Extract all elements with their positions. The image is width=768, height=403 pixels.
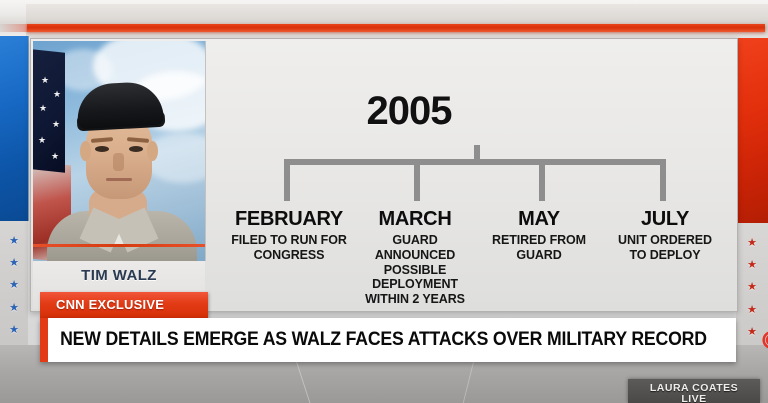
studio-accent-stripe (27, 24, 765, 32)
event-month-label: FEBRUARY (221, 209, 357, 230)
eye (95, 146, 109, 152)
flag-canton (33, 49, 65, 173)
broadcast-screen: ★ ★ ★ ★ ★ ★ ★ ★ ★ ★ ★ ★ (0, 0, 768, 403)
cnn-logo-icon (756, 327, 768, 353)
studio-right-red-panel (735, 38, 768, 223)
event-month-label: MAY (477, 209, 601, 230)
headline-bar: NEW DETAILS EMERGE AS WALZ FACES ATTACKS… (40, 318, 736, 362)
show-name-line1: LAURA COATES (628, 379, 760, 394)
portrait-caption-text: TIM WALZ (33, 267, 205, 284)
event-detail-text: FILED TO RUN FORCONGRESS (221, 233, 357, 263)
studio-wall-strip (26, 4, 768, 38)
event-month-label: MARCH (357, 209, 473, 230)
event-detail-text: RETIRED FROMGUARD (477, 233, 601, 263)
timeline-tick (414, 159, 420, 201)
event-detail-text: UNIT ORDEREDTO DEPLOY (601, 233, 729, 263)
timeline-event-july: JULY UNIT ORDEREDTO DEPLOY (601, 209, 729, 263)
timeline-tick (284, 159, 290, 201)
event-month-label: JULY (601, 209, 729, 230)
show-name-bug: LAURA COATES LIVE (628, 379, 760, 403)
accent-stripe-left-fade (0, 24, 28, 32)
exclusive-badge-text: CNN EXCLUSIVE (40, 292, 208, 312)
ear (147, 141, 158, 161)
nose (113, 153, 124, 171)
flag-star-icon: ★ (52, 119, 60, 130)
star-icon: ★ (9, 325, 19, 336)
flag-star-icon: ★ (39, 103, 47, 114)
studio-left-star-panel: ★ ★ ★ ★ ★ (0, 221, 28, 351)
photo-accent-line (33, 244, 205, 247)
ear (80, 141, 91, 161)
flag-star-icon: ★ (41, 75, 49, 86)
star-icon: ★ (747, 282, 757, 293)
eye (129, 146, 143, 152)
timeline-connector-stub (474, 145, 480, 159)
flag-star-icon: ★ (53, 89, 61, 100)
timeline-event-march: MARCH GUARDANNOUNCEDPOSSIBLEDEPLOYMENTWI… (357, 209, 473, 307)
studio-left-blue-panel (0, 36, 29, 221)
timeline-event-may: MAY RETIRED FROMGUARD (477, 209, 601, 263)
star-icon: ★ (9, 280, 19, 291)
star-icon: ★ (9, 303, 19, 314)
graphic-panel: ★ ★ ★ ★ ★ ★ TIM WA (30, 38, 738, 312)
timeline-tick (660, 159, 666, 201)
timeline-event-february: FEBRUARY FILED TO RUN FORCONGRESS (221, 209, 357, 263)
flag-star-icon: ★ (51, 151, 59, 162)
star-icon: ★ (747, 260, 757, 271)
star-icon: ★ (747, 238, 757, 249)
show-name-line2: LIVE (628, 394, 760, 403)
event-detail-text: GUARDANNOUNCEDPOSSIBLEDEPLOYMENTWITHIN 2… (357, 233, 473, 307)
mouth (106, 178, 132, 181)
portrait-photo: ★ ★ ★ ★ ★ ★ (33, 41, 206, 261)
timeline-tick (539, 159, 545, 201)
headline-text: NEW DETAILS EMERGE AS WALZ FACES ATTACKS… (48, 329, 707, 351)
star-icon: ★ (9, 258, 19, 269)
star-icon: ★ (9, 236, 19, 247)
flag-star-icon: ★ (38, 135, 46, 146)
star-icon: ★ (747, 305, 757, 316)
timeline-bar (284, 159, 666, 165)
timeline-year: 2005 (367, 89, 452, 134)
exclusive-badge: CNN EXCLUSIVE (40, 292, 208, 318)
